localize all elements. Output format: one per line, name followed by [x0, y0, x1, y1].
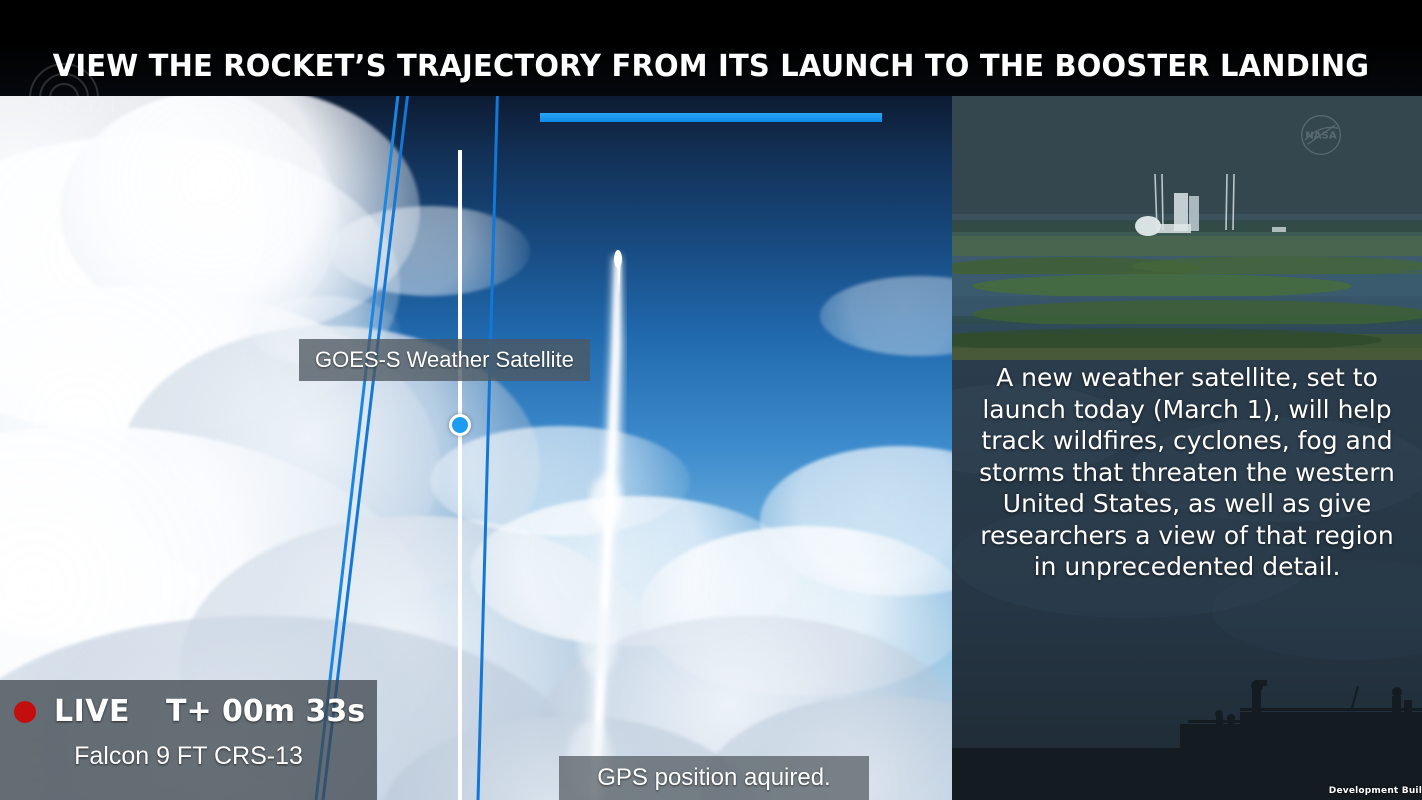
progress-bar-track[interactable]	[540, 113, 882, 122]
description-block: A new weather satellite, set to launch t…	[952, 360, 1422, 800]
main-video-feed[interactable]: GOES-S Weather Satellite GPS position aq…	[0, 96, 952, 800]
mission-time: T+ 00m 33s	[166, 694, 365, 729]
live-indicator-icon	[14, 701, 36, 723]
tracking-marker-dot[interactable]	[449, 414, 471, 436]
gps-caption-text: GPS position aquired.	[597, 764, 830, 792]
side-panel: NASA	[952, 96, 1422, 800]
nasa-meatball-icon: NASA	[1300, 114, 1342, 156]
svg-text:NASA: NASA	[1305, 130, 1336, 141]
description-text: A new weather satellite, set to launch t…	[968, 362, 1406, 583]
satellite-label: GOES-S Weather Satellite	[299, 339, 590, 381]
launch-pad-video[interactable]: NASA	[952, 96, 1422, 360]
progress-bar-fill	[540, 113, 882, 122]
launch-pad-scene	[952, 96, 1422, 360]
live-label: LIVE	[54, 694, 130, 729]
broadcast-screen: GOES-S Weather Satellite GPS position aq…	[0, 0, 1422, 800]
title-bar: VIEW THE ROCKET’S TRAJECTORY FROM ITS LA…	[0, 0, 1422, 96]
telemetry-panel: LIVE T+ 00m 33s Falcon 9 FT CRS-13	[0, 680, 377, 800]
page-title: VIEW THE ROCKET’S TRAJECTORY FROM ITS LA…	[25, 52, 1397, 82]
development-build-notice: Development Buil	[1329, 786, 1422, 796]
satellite-label-text: GOES-S Weather Satellite	[315, 347, 574, 373]
vehicle-name: Falcon 9 FT CRS-13	[0, 742, 377, 771]
gps-caption: GPS position aquired.	[559, 756, 869, 800]
live-status-row: LIVE T+ 00m 33s	[14, 694, 365, 729]
